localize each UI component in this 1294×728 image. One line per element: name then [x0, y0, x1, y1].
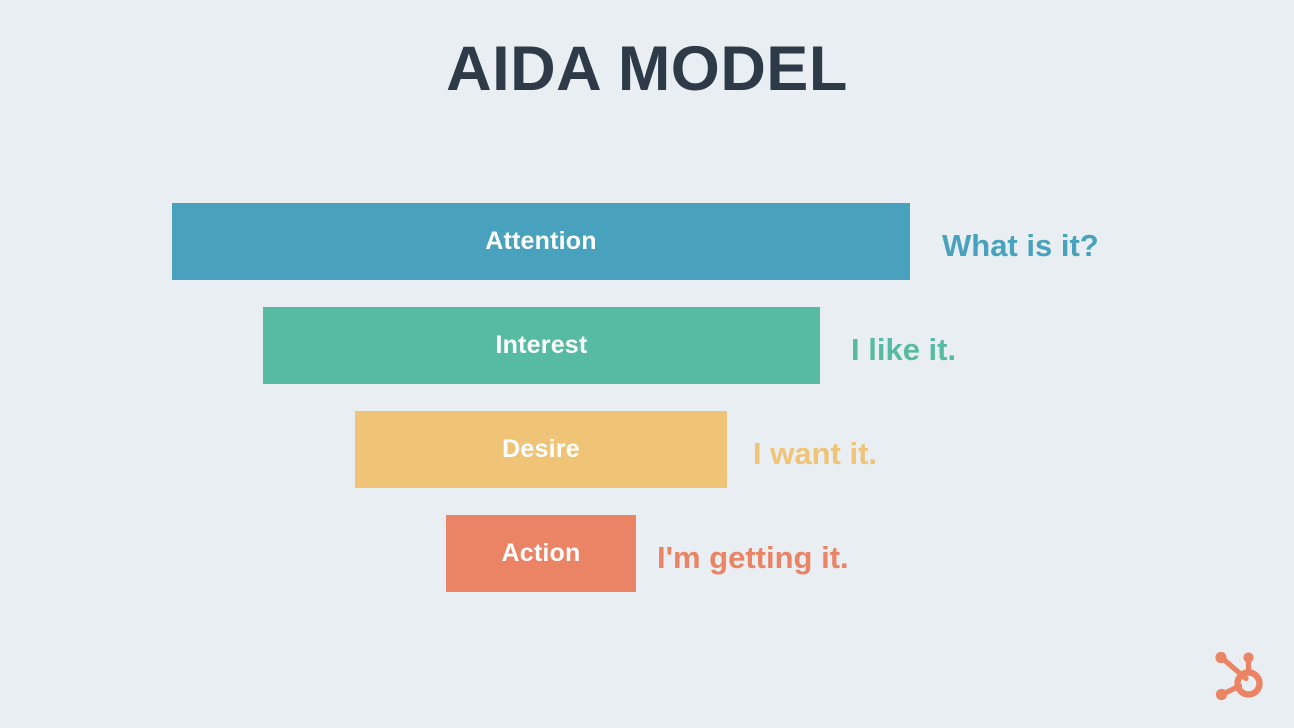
funnel-caption-action: I'm getting it. — [657, 515, 849, 592]
slide-canvas: AIDA MODEL AttentionWhat is it?InterestI… — [0, 0, 1294, 728]
funnel-bar-action[interactable]: Action — [446, 515, 636, 592]
funnel-bar-label: Interest — [496, 331, 588, 360]
funnel-stage-attention: AttentionWhat is it? — [0, 203, 1294, 280]
hubspot-sprocket-logo — [1208, 645, 1270, 707]
funnel-caption-attention: What is it? — [942, 203, 1099, 280]
funnel-stage-desire: DesireI want it. — [0, 411, 1294, 488]
aida-funnel-chart: AttentionWhat is it?InterestI like it.De… — [0, 203, 1294, 592]
funnel-bar-label: Action — [502, 539, 581, 568]
funnel-bar-desire[interactable]: Desire — [355, 411, 727, 488]
funnel-caption-interest: I like it. — [851, 307, 956, 384]
funnel-stage-action: ActionI'm getting it. — [0, 515, 1294, 592]
page-title: AIDA MODEL — [0, 36, 1294, 102]
funnel-bar-label: Desire — [502, 435, 580, 464]
funnel-stage-interest: InterestI like it. — [0, 307, 1294, 384]
funnel-bar-attention[interactable]: Attention — [172, 203, 910, 280]
funnel-bar-label: Attention — [485, 227, 597, 256]
funnel-bar-interest[interactable]: Interest — [263, 307, 820, 384]
funnel-caption-desire: I want it. — [753, 411, 877, 488]
